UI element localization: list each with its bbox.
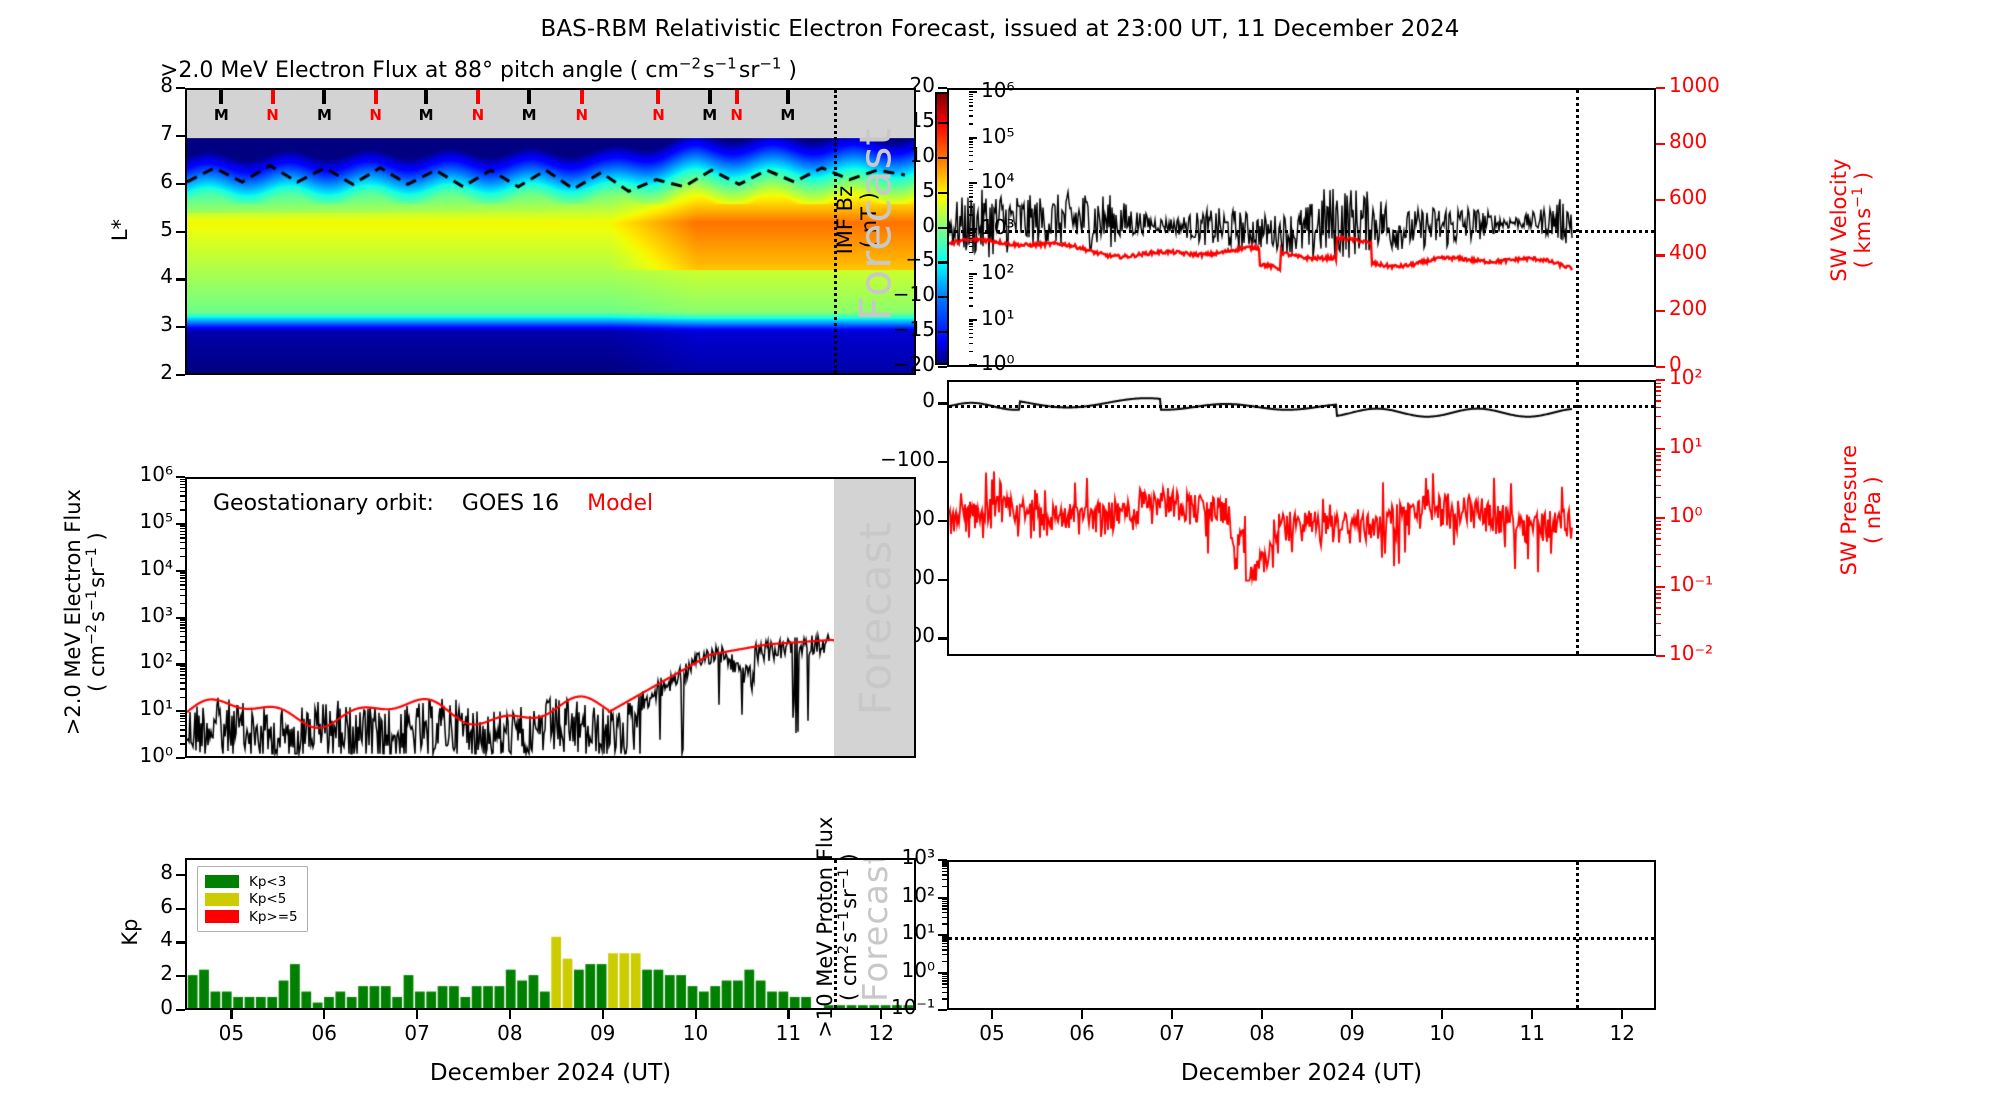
geo-minor-tick <box>180 641 185 642</box>
proton-minor-tick <box>942 886 947 887</box>
dst-ytick-mark <box>938 579 947 581</box>
sw-pressure-minor-tick <box>1656 597 1661 598</box>
sw-pressure-ytick-label-right: 10¹ <box>1669 436 1702 456</box>
colorbar-minor-tick <box>969 287 973 288</box>
sw-pressure-minor-tick <box>1656 464 1661 465</box>
proton-minor-tick <box>942 912 947 913</box>
lstar-title-units: cm−2 s−1 sr−1 <box>645 58 781 83</box>
proton-minor-tick <box>942 954 947 955</box>
colorbar-tick-label: 10³ <box>981 215 1014 239</box>
imf-bz-ytick-mark <box>938 331 947 333</box>
sw-pressure-ytick-mark-right <box>1656 517 1665 519</box>
colorbar-minor-tick <box>969 276 973 277</box>
kp-swatch-low <box>205 875 239 888</box>
geo-minor-tick <box>180 595 185 596</box>
geo-minor-tick <box>180 525 185 526</box>
sw-pressure-minor-tick <box>1656 528 1661 529</box>
colorbar-minor-tick <box>969 196 973 197</box>
mn-label-n: N <box>730 106 743 124</box>
proton-xtick-label: 09 <box>1322 1023 1382 1043</box>
mn-label-n: N <box>369 106 382 124</box>
geo-minor-tick <box>180 556 185 557</box>
sw-pressure-minor-tick <box>1656 407 1661 408</box>
lstar-title-mid: pitch angle ( <box>500 58 638 83</box>
kp-legend-row: Kp<5 <box>205 891 298 907</box>
proton-minor-tick <box>942 992 947 993</box>
sw-pressure-minor-tick <box>1656 476 1661 477</box>
dst-ytick-label: 0 <box>839 390 935 410</box>
colorbar-minor-tick <box>969 141 973 142</box>
geo-minor-tick <box>180 534 185 535</box>
sw-pressure-minor-tick <box>1656 538 1661 539</box>
kp-ytick-label: 8 <box>77 862 173 882</box>
kp-swatch-mid <box>205 893 239 906</box>
sw-pressure-minor-tick <box>1656 459 1661 460</box>
kp-xtick-label: 07 <box>387 1023 447 1043</box>
sw-pressure-minor-tick <box>1656 428 1661 429</box>
sw-pressure-minor-tick <box>1656 593 1661 594</box>
proton-flux-axes <box>947 860 1656 1010</box>
lstar-ytick-mark <box>176 231 185 233</box>
colorbar-minor-tick <box>969 110 973 111</box>
proton-xtick-label: 12 <box>1592 1023 1652 1043</box>
kp-ytick-label: 2 <box>77 963 173 983</box>
lstar-ytick-label: 4 <box>77 266 173 286</box>
proton-xtick-mark <box>991 1010 993 1019</box>
sw-pressure-minor-tick <box>1656 554 1661 555</box>
mn-tick-m <box>708 90 712 104</box>
geo-minor-tick <box>180 572 185 573</box>
colorbar-minor-tick <box>969 151 973 152</box>
geo-forecast-label: Forecast <box>850 546 901 716</box>
geo-minor-tick <box>180 528 185 529</box>
geo-ytick-label: 10⁰ <box>77 745 173 765</box>
kp-ytick-mark <box>176 975 185 977</box>
imf-bz-zero-line <box>949 230 1654 233</box>
geo-minor-tick <box>180 531 185 532</box>
colorbar-tick-mark <box>969 364 977 366</box>
geostationary-flux-axes: Forecast <box>185 477 916 758</box>
colorbar-minor-tick <box>969 235 973 236</box>
sw-pressure-ylabel-line2: ( nPa ) <box>1861 350 1885 670</box>
imf-bz-ytick-mark <box>938 87 947 89</box>
colorbar-minor-tick <box>969 206 973 207</box>
proton-minor-tick <box>942 976 947 977</box>
sw-pressure-minor-tick <box>1656 386 1661 387</box>
geo-minor-tick <box>180 725 185 726</box>
colorbar-minor-tick <box>969 169 973 170</box>
sw-velocity-ytick-mark-right <box>1656 87 1665 89</box>
sw-pressure-minor-tick <box>1656 469 1661 470</box>
sw-pressure-minor-tick <box>1656 545 1661 546</box>
geo-minor-tick <box>180 631 185 632</box>
geo-minor-tick <box>180 487 185 488</box>
colorbar-tick-label: 10² <box>981 260 1014 284</box>
lstar-ytick-label: 8 <box>77 75 173 95</box>
sw-pressure-ytick-label-right: 10⁻¹ <box>1669 574 1713 594</box>
mn-tick-n <box>735 90 739 104</box>
mn-label-m: M <box>702 106 717 124</box>
proton-minor-tick <box>942 936 947 937</box>
sw-pressure-minor-tick <box>1656 416 1661 417</box>
proton-xtick-label: 07 <box>1142 1023 1202 1043</box>
proton-minor-tick <box>942 923 947 924</box>
sw-pressure-ytick-label-right: 10² <box>1669 367 1702 387</box>
colorbar-minor-tick <box>969 105 973 106</box>
dst-axes <box>947 380 1656 656</box>
proton-minor-tick <box>942 917 947 918</box>
geo-minor-tick <box>180 650 185 651</box>
proton-minor-tick <box>942 961 947 962</box>
geo-ytick-label: 10³ <box>77 605 173 625</box>
geo-minor-tick <box>180 491 185 492</box>
kp-xtick-label: 12 <box>851 1023 911 1043</box>
colorbar-minor-tick <box>969 242 973 243</box>
kp-xtick-mark <box>602 1010 604 1019</box>
proton-minor-tick <box>942 978 947 979</box>
kp-ytick-label: 4 <box>77 929 173 949</box>
geo-minor-tick <box>180 674 185 675</box>
geostationary-flux-canvas <box>187 479 914 756</box>
imf-bz-ytick-label: −15 <box>839 319 935 339</box>
colorbar-minor-tick <box>969 281 973 282</box>
geo-minor-tick <box>180 735 185 736</box>
sw-velocity-ylabel-line1: SW Velocity <box>1827 60 1851 380</box>
proton-minor-tick <box>942 974 947 975</box>
proton-minor-tick <box>942 949 947 950</box>
geo-minor-tick <box>180 688 185 689</box>
geo-minor-tick <box>180 575 185 576</box>
kp-ytick-mark <box>176 941 185 943</box>
lstar-forecast-divider <box>834 90 837 373</box>
kp-xtick-mark <box>787 1010 789 1019</box>
sw-velocity-ytick-mark-right <box>1656 143 1665 145</box>
kp-xtick-mark <box>323 1010 325 1019</box>
sw-velocity-y-axis-label: SW Velocity ( km s−1 ) <box>1827 60 1875 380</box>
mn-label-m: M <box>419 106 434 124</box>
geo-legend-model: Model <box>587 491 653 516</box>
colorbar-minor-tick <box>969 115 973 116</box>
imf-bz-ytick-mark <box>938 122 947 124</box>
proton-xtick-label: 05 <box>962 1023 1022 1043</box>
proton-xtick-mark <box>1261 1010 1263 1019</box>
sw-velocity-ytick-label-right: 800 <box>1669 131 1707 151</box>
imf-bz-forecast-divider <box>1576 90 1579 365</box>
sw-pressure-minor-tick <box>1656 485 1661 486</box>
lstar-ytick-mark <box>176 326 185 328</box>
sw-pressure-minor-tick <box>1656 602 1661 603</box>
mn-label-m: M <box>317 106 332 124</box>
sw-pressure-minor-tick <box>1656 452 1661 453</box>
colorbar-minor-tick <box>969 190 973 191</box>
geostationary-legend: Geostationary orbit: GOES 16 Model <box>213 491 653 516</box>
sw-velocity-ytick-label-right: 400 <box>1669 242 1707 262</box>
sw-pressure-minor-tick <box>1656 455 1661 456</box>
dst-ytick-mark <box>938 402 947 404</box>
proton-forecast-divider <box>1576 862 1579 1008</box>
proton-xtick-label: 06 <box>1052 1023 1112 1043</box>
lstar-ytick-mark <box>176 183 185 185</box>
geo-minor-tick <box>180 715 185 716</box>
degree-symbol: ° <box>482 58 493 83</box>
proton-minor-tick <box>942 946 947 947</box>
imf-bz-ytick-mark <box>938 157 947 159</box>
sw-velocity-ylabel-line2: ( km s−1 ) <box>1851 60 1875 380</box>
proton-minor-tick <box>942 879 947 880</box>
colorbar-minor-tick <box>969 185 973 186</box>
mn-orbit-strip: MNMNMNMNNMNMNMN <box>187 90 914 138</box>
geo-legend-prefix: Geostationary orbit: <box>213 491 434 516</box>
geo-minor-tick <box>180 697 185 698</box>
mn-label-m: M <box>522 106 537 124</box>
proton-minor-tick <box>942 861 947 862</box>
geo-minor-tick <box>180 627 185 628</box>
proton-minor-tick <box>942 874 947 875</box>
proton-x-axis-label: December 2024 (UT) <box>947 1060 1656 1086</box>
colorbar-minor-tick <box>969 139 973 140</box>
colorbar-tick-label: 10¹ <box>981 306 1014 330</box>
mn-tick-m <box>424 90 428 104</box>
geo-minor-tick <box>180 542 185 543</box>
proton-minor-tick <box>942 983 947 984</box>
proton-xtick-mark <box>1621 1010 1623 1019</box>
colorbar-minor-tick <box>969 246 973 247</box>
geo-minor-tick <box>180 666 185 667</box>
proton-minor-tick <box>942 903 947 904</box>
sw-pressure-minor-tick <box>1656 383 1661 384</box>
geo-ytick-label: 10¹ <box>77 698 173 718</box>
sw-pressure-minor-tick <box>1656 623 1661 624</box>
sw-pressure-minor-tick <box>1656 395 1661 396</box>
geo-ytick-label: 10⁵ <box>77 511 173 531</box>
colorbar-minor-tick <box>969 214 973 215</box>
colorbar-tick-label: 10⁶ <box>981 78 1014 102</box>
sw-pressure-ylabel-line1: SW Pressure <box>1837 350 1861 670</box>
geo-ytick-label: 10² <box>77 651 173 671</box>
geo-minor-tick <box>180 678 185 679</box>
colorbar-tick-label: 10⁵ <box>981 124 1014 148</box>
geo-minor-tick <box>180 603 185 604</box>
sw-pressure-minor-tick <box>1656 400 1661 401</box>
proton-xtick-mark <box>1441 1010 1443 1019</box>
colorbar-minor-tick <box>969 321 973 322</box>
sw-pressure-ytick-label-right: 10⁻² <box>1669 643 1713 663</box>
proton-xtick-label: 10 <box>1412 1023 1472 1043</box>
kp-xtick-label: 09 <box>573 1023 633 1043</box>
colorbar-minor-tick <box>969 96 973 97</box>
proton-minor-tick <box>942 940 947 941</box>
mn-label-n: N <box>472 106 485 124</box>
geo-minor-tick <box>180 577 185 578</box>
colorbar-minor-tick <box>969 326 973 327</box>
mn-label-m: M <box>780 106 795 124</box>
proton-ytick-mark <box>938 1009 947 1011</box>
sw-velocity-ytick-mark-right <box>1656 366 1665 368</box>
sw-pressure-ytick-mark-right <box>1656 586 1665 588</box>
mn-tick-n <box>374 90 378 104</box>
proton-minor-tick <box>942 905 947 906</box>
kp-ytick-mark <box>176 874 185 876</box>
sw-pressure-ytick-mark-right <box>1656 448 1665 450</box>
proton-xtick-mark <box>1171 1010 1173 1019</box>
sw-pressure-minor-tick <box>1656 497 1661 498</box>
mn-tick-m <box>786 90 790 104</box>
geo-minor-tick <box>180 622 185 623</box>
colorbar-minor-tick <box>969 201 973 202</box>
dst-forecast-divider <box>1576 382 1579 654</box>
kp-legend-label-low: Kp<3 <box>249 874 286 890</box>
colorbar-minor-tick <box>969 323 973 324</box>
kp-xtick-mark <box>695 1010 697 1019</box>
proton-xtick-mark <box>1531 1010 1533 1019</box>
sw-pressure-minor-tick <box>1656 390 1661 391</box>
proton-minor-tick <box>942 980 947 981</box>
proton-minor-tick <box>942 998 947 999</box>
imf-bz-axes <box>947 88 1656 367</box>
geo-minor-tick <box>180 501 185 502</box>
mn-tick-m <box>219 90 223 104</box>
lstar-ytick-mark <box>176 87 185 89</box>
kp-ytick-mark <box>176 1009 185 1011</box>
geo-ytick-label: 10⁴ <box>77 558 173 578</box>
kp-legend: Kp<3 Kp<5 Kp>=5 <box>197 866 308 932</box>
mn-tick-n <box>476 90 480 104</box>
mn-label-n: N <box>575 106 588 124</box>
colorbar-minor-tick <box>969 329 973 330</box>
proton-xtick-label: 11 <box>1502 1023 1562 1043</box>
proton-minor-tick <box>942 943 947 944</box>
proton-minor-tick <box>942 899 947 900</box>
lstar-title-prefix: >2.0 MeV Electron Flux at 88 <box>160 58 482 83</box>
dst-ytick-mark <box>938 461 947 463</box>
geo-minor-tick <box>180 636 185 637</box>
colorbar-minor-tick <box>969 193 973 194</box>
geo-minor-tick <box>180 713 185 714</box>
geo-minor-tick <box>180 668 185 669</box>
imf-bz-ytick-mark <box>938 227 947 229</box>
kp-legend-row: Kp<3 <box>205 874 298 890</box>
proton-minor-tick <box>942 863 947 864</box>
sw-pressure-minor-tick <box>1656 521 1661 522</box>
geo-minor-tick <box>180 743 185 744</box>
colorbar-minor-tick <box>969 284 973 285</box>
colorbar-tick-label: 10⁰ <box>981 351 1014 375</box>
mn-tick-m <box>322 90 326 104</box>
sw-pressure-minor-tick <box>1656 533 1661 534</box>
geo-minor-tick <box>180 624 185 625</box>
proton-minor-tick <box>942 865 947 866</box>
colorbar-minor-tick <box>969 333 973 334</box>
geo-minor-tick <box>180 729 185 730</box>
geo-minor-tick <box>180 481 185 482</box>
colorbar-minor-tick <box>969 232 973 233</box>
imf-bz-canvas <box>949 90 1654 365</box>
dst-ytick-mark <box>938 520 947 522</box>
geo-minor-tick <box>180 581 185 582</box>
geo-minor-tick <box>180 721 185 722</box>
imf-bz-ytick-mark <box>938 296 947 298</box>
sw-pressure-minor-tick <box>1656 590 1661 591</box>
colorbar-minor-tick <box>969 337 973 338</box>
geo-ytick-mark <box>176 757 185 759</box>
geo-legend-goes: GOES 16 <box>462 491 559 516</box>
page-title: BAS-RBM Relativistic Electron Forecast, … <box>0 16 2000 42</box>
colorbar-minor-tick <box>969 278 973 279</box>
kp-ytick-mark <box>176 908 185 910</box>
geo-minor-tick <box>180 671 185 672</box>
kp-forecast-divider <box>834 860 837 1008</box>
geo-minor-tick <box>180 495 185 496</box>
geo-minor-tick <box>180 548 185 549</box>
sw-velocity-ytick-mark-right <box>1656 310 1665 312</box>
geo-minor-tick <box>180 682 185 683</box>
lstar-ytick-mark <box>176 278 185 280</box>
colorbar-minor-tick <box>969 292 973 293</box>
kp-swatch-high <box>205 910 239 923</box>
sw-pressure-minor-tick <box>1656 566 1661 567</box>
lstar-ytick-label: 5 <box>77 219 173 239</box>
geo-minor-tick <box>180 537 185 538</box>
imf-bz-ytick-label: −20 <box>839 354 935 374</box>
proton-minor-tick <box>942 987 947 988</box>
proton-minor-tick <box>942 908 947 909</box>
kp-legend-label-mid: Kp<5 <box>249 891 286 907</box>
lstar-ytick-mark <box>176 135 185 137</box>
sw-pressure-ytick-label-right: 10⁰ <box>1669 505 1702 525</box>
colorbar-minor-tick <box>969 305 973 306</box>
kp-forecast-label: Forecast <box>856 858 896 1006</box>
sw-pressure-ytick-mark-right <box>1656 655 1665 657</box>
mn-label-m: M <box>214 106 229 124</box>
colorbar-minor-tick <box>969 99 973 100</box>
geo-minor-tick <box>180 718 185 719</box>
mn-tick-n <box>580 90 584 104</box>
proton-minor-tick <box>942 938 947 939</box>
kp-x-axis-label: December 2024 (UT) <box>185 1060 916 1086</box>
colorbar-minor-tick <box>969 343 973 344</box>
mn-tick-m <box>527 90 531 104</box>
kp-xtick-label: 05 <box>201 1023 261 1043</box>
geo-minor-tick <box>180 479 185 480</box>
geo-ytick-label: 10⁶ <box>77 464 173 484</box>
sw-pressure-minor-tick <box>1656 607 1661 608</box>
kp-ytick-label: 0 <box>77 997 173 1017</box>
mn-label-n: N <box>652 106 665 124</box>
colorbar-minor-tick <box>969 147 973 148</box>
geo-minor-tick <box>180 589 185 590</box>
colorbar-minor-tick <box>969 252 973 253</box>
colorbar-minor-tick <box>969 260 973 261</box>
lstar-ytick-mark <box>176 374 185 376</box>
colorbar-minor-tick <box>969 144 973 145</box>
sw-velocity-ytick-mark-right <box>1656 254 1665 256</box>
colorbar-minor-tick <box>969 102 973 103</box>
proton-minor-tick <box>942 868 947 869</box>
sw-pressure-ytick-mark-right <box>1656 379 1665 381</box>
kp-ytick-label: 6 <box>77 896 173 916</box>
colorbar-minor-tick <box>969 155 973 156</box>
geo-minor-tick <box>180 584 185 585</box>
sw-velocity-ytick-mark-right <box>1656 199 1665 201</box>
geo-minor-tick <box>180 509 185 510</box>
dst-zero-line <box>949 405 1654 408</box>
proton-xtick-label: 08 <box>1232 1023 1292 1043</box>
proton-xtick-mark <box>1351 1010 1353 1019</box>
kp-xtick-label: 11 <box>758 1023 818 1043</box>
lstar-forecast-label: Forecast <box>850 151 901 321</box>
mn-label-n: N <box>266 106 279 124</box>
geo-minor-tick <box>180 484 185 485</box>
